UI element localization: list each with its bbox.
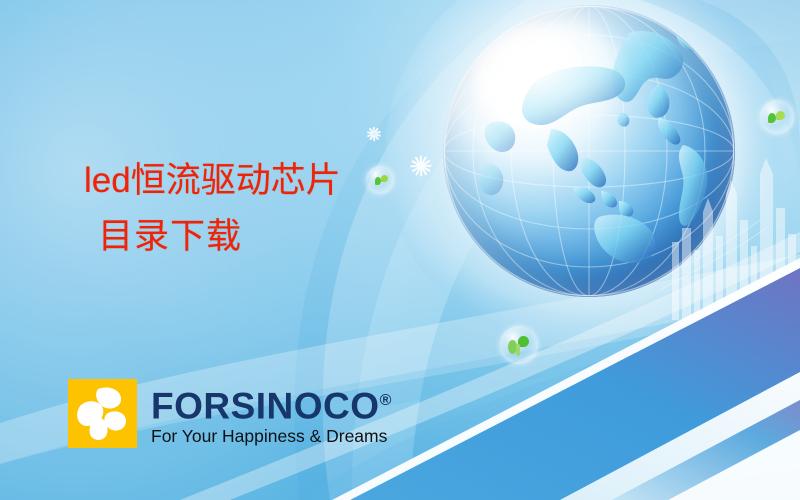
- bubble-icon-top: [366, 166, 394, 194]
- registered-trademark-icon: ®: [380, 392, 392, 409]
- sparkle-asterisk-icon: [410, 155, 432, 177]
- pinwheel-petals: [68, 379, 137, 448]
- logo-tagline: For Your Happiness & Dreams: [151, 426, 392, 446]
- bubble-stem: [516, 344, 520, 356]
- headline-line-2: 目录下载: [98, 219, 341, 254]
- headline-line-1: led恒流驱动芯片: [84, 161, 341, 200]
- brand-logo[interactable]: FORSINOCO® For Your Happiness & Dreams: [68, 379, 392, 448]
- logo-name-text: FORSINOCO: [151, 385, 380, 426]
- slide-canvas: led恒流驱动芯片 目录下载 FORSINOCO® For Your Happi…: [0, 0, 800, 500]
- bubble-seed: [768, 113, 776, 123]
- bubble-icon-right: [760, 100, 794, 134]
- logo-wordmark: FORSINOCO®: [151, 382, 392, 425]
- pinwheel-flower-icon: [68, 379, 137, 448]
- page-title: led恒流驱动芯片 目录下载: [84, 163, 341, 254]
- sparkle-asterisk-icon-small: [366, 126, 381, 141]
- bubble-seed: [776, 111, 785, 120]
- bubble-seed: [381, 175, 388, 182]
- logo-text-block: FORSINOCO® For Your Happiness & Dreams: [151, 379, 392, 446]
- bubble-icon-plant: [500, 326, 538, 364]
